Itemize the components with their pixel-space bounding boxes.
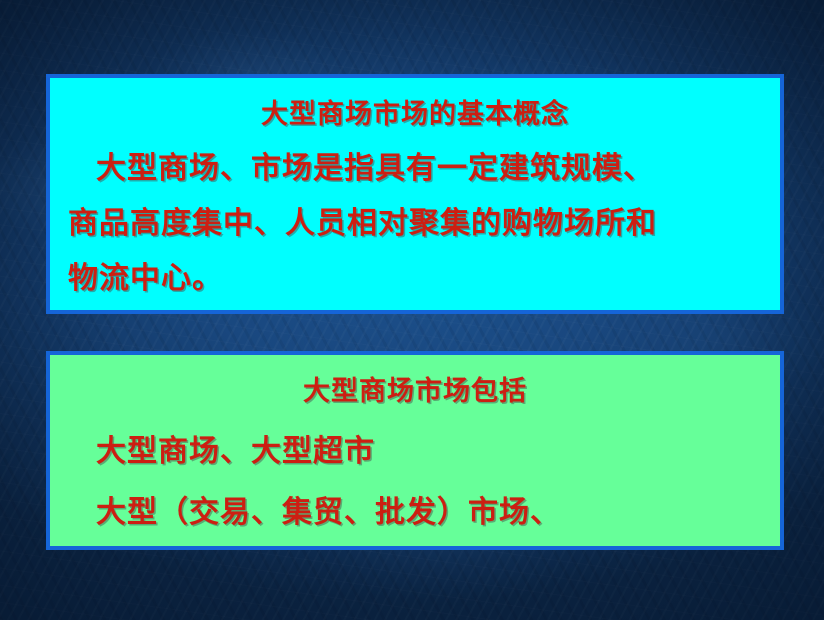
presentation-slide: 大型商场市场的基本概念 大型商场、市场是指具有一定建筑规模、 商品高度集中、人员…	[0, 0, 824, 620]
includes-panel-line-2: 大型（交易、集贸、批发）市场、	[50, 496, 780, 529]
concept-panel-line-3: 物流中心。	[50, 262, 780, 295]
concept-definition-panel: 大型商场市场的基本概念 大型商场、市场是指具有一定建筑规模、 商品高度集中、人员…	[46, 74, 784, 314]
concept-panel-heading: 大型商场市场的基本概念	[50, 100, 780, 130]
concept-panel-line-1: 大型商场、市场是指具有一定建筑规模、	[50, 152, 780, 185]
concept-panel-line-2: 商品高度集中、人员相对聚集的购物场所和	[50, 207, 780, 240]
scope-includes-panel: 大型商场市场包括 大型商场、大型超市 大型（交易、集贸、批发）市场、	[46, 351, 784, 550]
includes-panel-heading: 大型商场市场包括	[50, 377, 780, 407]
includes-panel-line-1: 大型商场、大型超市	[50, 435, 780, 468]
